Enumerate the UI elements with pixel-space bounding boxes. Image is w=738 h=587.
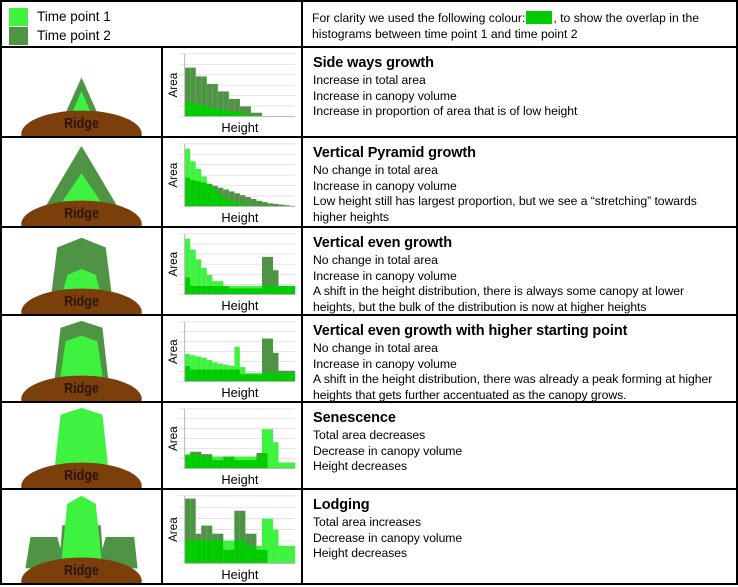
case-line: Increase in canopy volume xyxy=(313,269,728,285)
case-line: Height decreases xyxy=(313,546,728,562)
canopy-cell: Ridge xyxy=(0,48,163,136)
description-cell: Vertical even growth with higher startin… xyxy=(303,316,738,401)
scenario-title: Vertical even growth with higher startin… xyxy=(313,322,728,340)
ridge-label: Ridge xyxy=(64,562,99,578)
canopy-diagram-side-ways-growth: Ridge xyxy=(2,48,161,136)
scenario-row-lodging: Ridge Area Height LodgingTotal area incr… xyxy=(0,490,738,585)
case-line: Decrease in canopy volume xyxy=(313,531,728,547)
x-axis-label: Height xyxy=(221,472,258,487)
description-cell: SenescenceTotal area decreasesDecrease i… xyxy=(303,403,738,488)
ridge-label: Ridge xyxy=(64,467,99,483)
description-cell: Vertical even growthNo change in total a… xyxy=(303,228,738,314)
note-text-before: For clarity we used the following colour… xyxy=(312,11,525,25)
canopy-cell: Ridge xyxy=(0,403,163,488)
scenario-title: Lodging xyxy=(313,496,728,514)
case-line: Increase in canopy volume xyxy=(313,179,728,195)
canopy-cell: Ridge xyxy=(0,490,163,583)
canopy-diagram-lodging: Ridge xyxy=(2,490,161,583)
histogram-chart: Area Height xyxy=(163,48,301,136)
scenario-row-vertical-even-growth-higher-start: Ridge Area Height Vertical even growth w… xyxy=(0,316,738,403)
scenario-row-senescence: Ridge Area Height SenescenceTotal area d… xyxy=(0,403,738,490)
scenario-rows: Ridge Area Height Side ways growthIncrea… xyxy=(0,48,738,585)
description-cell: Vertical Pyramid growthNo change in tota… xyxy=(303,138,738,226)
histogram-cell: Area Height xyxy=(163,316,303,401)
x-axis-label: Height xyxy=(221,385,258,400)
scenario-title: Side ways growth xyxy=(313,54,728,72)
canopy-cell: Ridge xyxy=(0,228,163,314)
ridge-label: Ridge xyxy=(64,293,99,309)
histogram-cell: Area Height xyxy=(163,490,303,583)
case-line: Increase in proportion of area that is o… xyxy=(313,104,728,120)
scenario-row-vertical-even-growth: Ridge Area Height Vertical even growthNo… xyxy=(0,228,738,316)
case-line: A shift in the height distribution, ther… xyxy=(313,284,728,315)
histogram-chart: Area Height xyxy=(163,490,301,583)
scenario-title: Senescence xyxy=(313,409,728,427)
legend-label-time-point-1: Time point 1 xyxy=(37,7,111,26)
overlap-colour-swatch xyxy=(526,11,552,24)
case-line: No change in total area xyxy=(313,163,728,179)
legend-item-time-point-2: Time point 2 xyxy=(9,26,301,45)
histogram-chart: Area Height xyxy=(163,403,301,488)
y-axis-label: Area xyxy=(167,162,180,187)
histogram-cell: Area Height xyxy=(163,403,303,488)
canopy-growth-scenarios-figure: Time point 1 Time point 2 For clarity we… xyxy=(0,0,738,587)
legend-swatch-time-point-2 xyxy=(9,27,28,45)
histogram-cell: Area Height xyxy=(163,228,303,314)
y-axis-label: Area xyxy=(167,251,180,276)
scenario-title: Vertical even growth xyxy=(313,234,728,252)
case-line: Increase in total area xyxy=(313,73,728,89)
histogram-chart: Area Height xyxy=(163,228,301,314)
canopy-diagram-vertical-even-growth-higher-start: Ridge xyxy=(2,316,161,401)
histogram-chart: Area Height xyxy=(163,316,301,401)
histogram-cell: Area Height xyxy=(163,48,303,136)
canopy-diagram-vertical-even-growth: Ridge xyxy=(2,228,161,314)
canopy-diagram-senescence: Ridge xyxy=(2,403,161,488)
legend-swatch-time-point-1 xyxy=(9,8,28,26)
canopy-diagram-vertical-pyramid-growth: Ridge xyxy=(2,138,161,226)
description-cell: Side ways growthIncrease in total areaIn… xyxy=(303,48,738,136)
y-axis-label: Area xyxy=(167,339,180,364)
scenario-row-side-ways-growth: Ridge Area Height Side ways growthIncrea… xyxy=(0,48,738,138)
histogram-chart: Area Height xyxy=(163,138,301,226)
x-axis-label: Height xyxy=(221,210,258,225)
case-line: Increase in canopy volume xyxy=(313,89,728,105)
scenario-title: Vertical Pyramid growth xyxy=(313,144,728,162)
case-line: Total area increases xyxy=(313,515,728,531)
scenario-row-vertical-pyramid-growth: Ridge Area Height Vertical Pyramid growt… xyxy=(0,138,738,228)
x-axis-label: Height xyxy=(221,567,258,582)
histogram-cell: Area Height xyxy=(163,138,303,226)
y-axis-label: Area xyxy=(167,72,180,97)
ridge-label: Ridge xyxy=(64,115,99,131)
case-line: No change in total area xyxy=(313,253,728,269)
legend-cell: Time point 1 Time point 2 xyxy=(0,2,303,46)
canopy-cell: Ridge xyxy=(0,138,163,226)
case-line: Total area decreases xyxy=(313,428,728,444)
ridge-label: Ridge xyxy=(64,205,99,221)
case-line: Decrease in canopy volume xyxy=(313,444,728,460)
y-axis-label: Area xyxy=(167,517,180,542)
y-axis-label: Area xyxy=(167,426,180,451)
x-axis-label: Height xyxy=(221,120,258,135)
description-cell: LodgingTotal area increasesDecrease in c… xyxy=(303,490,738,583)
ridge-label: Ridge xyxy=(64,380,99,396)
case-line: No change in total area xyxy=(313,341,728,357)
canopy-cell: Ridge xyxy=(0,316,163,401)
x-axis-label: Height xyxy=(221,298,258,313)
case-line: A shift in the height distribution, ther… xyxy=(313,372,728,403)
case-line: Increase in canopy volume xyxy=(313,357,728,373)
case-line: Height decreases xyxy=(313,459,728,475)
case-line: Low height still has largest proportion,… xyxy=(313,194,728,225)
legend-item-time-point-1: Time point 1 xyxy=(9,7,301,26)
header-row: Time point 1 Time point 2 For clarity we… xyxy=(0,0,738,48)
canopy-shape-time-point-1 xyxy=(61,496,103,568)
overlap-colour-note: For clarity we used the following colour… xyxy=(303,2,738,46)
legend-label-time-point-2: Time point 2 xyxy=(37,26,111,45)
